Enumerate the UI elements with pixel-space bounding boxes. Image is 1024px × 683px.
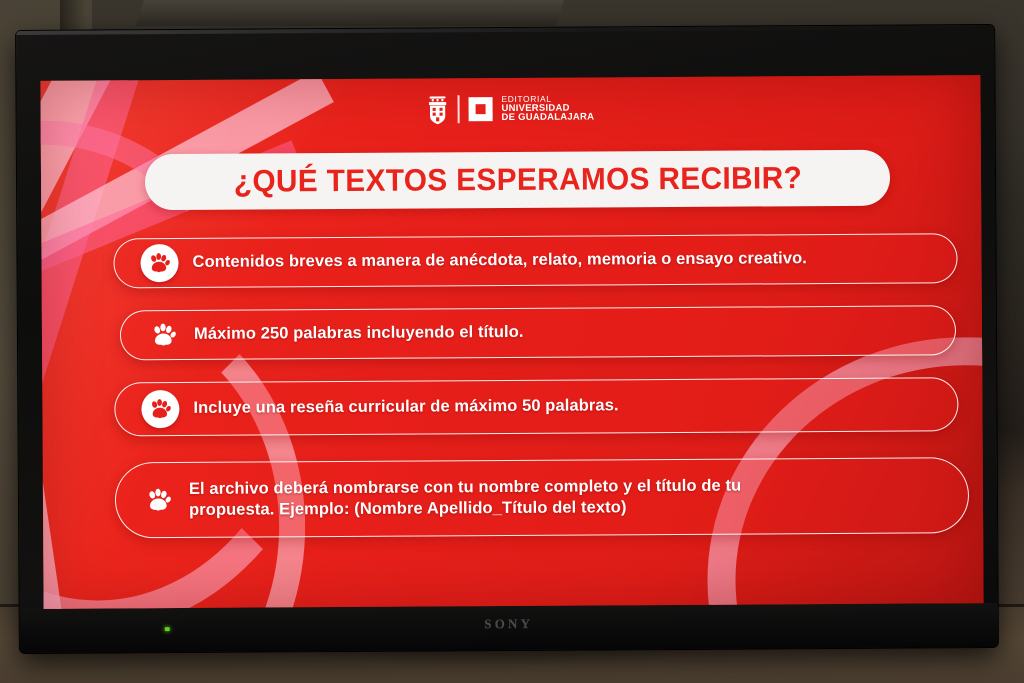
- paw-print-icon: [147, 318, 180, 351]
- paw-print-circle-icon: [141, 390, 179, 428]
- list-item-text: El archivo deberá nombrarse con tu nombr…: [189, 475, 742, 521]
- list-item: Incluye una reseña curricular de máximo …: [114, 377, 958, 436]
- ceiling-beam: [136, 0, 563, 26]
- television: SONY: [16, 25, 998, 653]
- list-item: Contenidos breves a manera de anécdota, …: [113, 233, 957, 288]
- bullet-list: Contenidos breves a manera de anécdota, …: [40, 75, 983, 609]
- list-item-text: Incluye una reseña curricular de máximo …: [193, 396, 618, 420]
- tv-screen: EDITORIAL UNIVERSIDAD DE GUADALAJARA ¿QU…: [40, 75, 983, 609]
- room-photo: SONY: [0, 0, 1024, 683]
- paw-print-circle-icon: [140, 244, 178, 282]
- power-led-indicator: [165, 627, 170, 631]
- list-item-text: Máximo 250 palabras incluyendo el título…: [194, 322, 524, 345]
- list-item: El archivo deberá nombrarse con tu nombr…: [115, 457, 969, 538]
- presentation-slide: EDITORIAL UNIVERSIDAD DE GUADALAJARA ¿QU…: [40, 75, 983, 609]
- list-item-text-line2: propuesta. Ejemplo: (Nombre Apellido_Tít…: [189, 497, 741, 522]
- list-item-text: Contenidos breves a manera de anécdota, …: [192, 248, 807, 273]
- list-item: Máximo 250 palabras incluyendo el título…: [120, 305, 956, 360]
- list-item-text-line1: El archivo deberá nombrarse con tu nombr…: [189, 475, 741, 500]
- paw-print-icon: [142, 484, 175, 517]
